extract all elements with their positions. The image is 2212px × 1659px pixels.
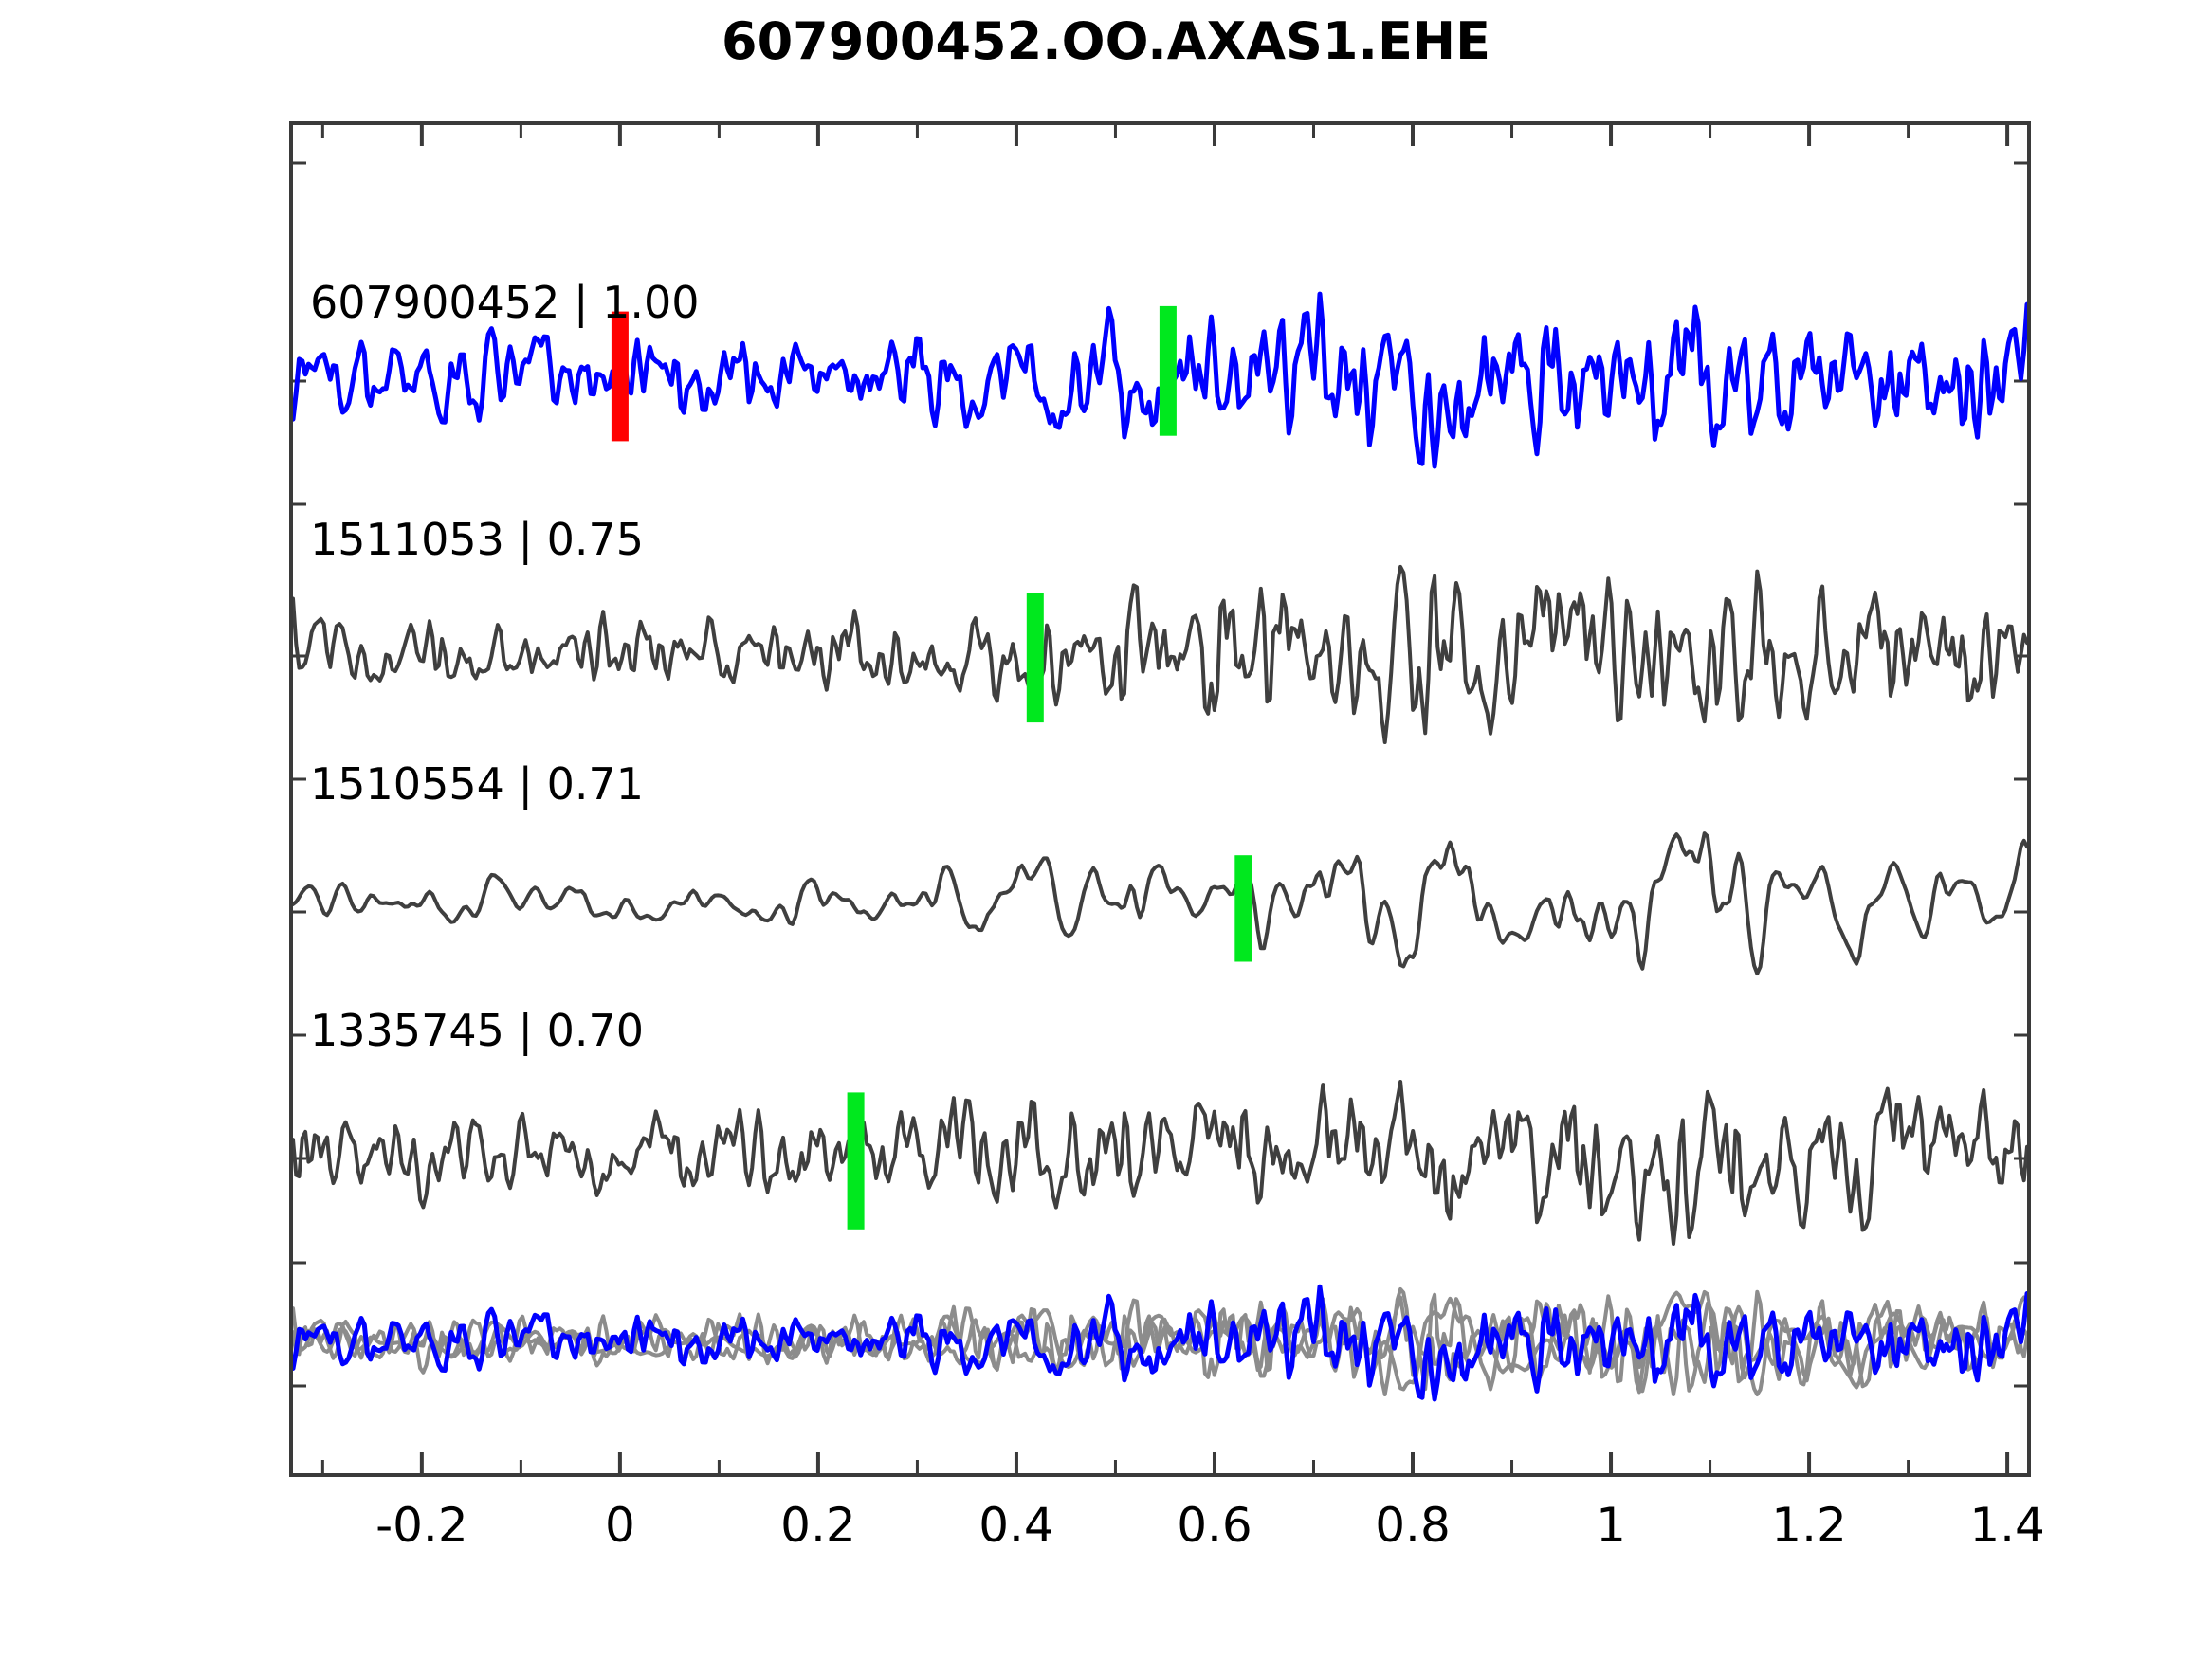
x-tick-label-7: 1.2 — [1771, 1498, 1847, 1553]
s-pick-marker-1335745 — [848, 1092, 865, 1229]
trace-line-1511053 — [293, 567, 2027, 742]
x-tick-label-3: 0.4 — [978, 1498, 1054, 1553]
p-pick-marker-607900452 — [612, 312, 629, 442]
figure-canvas: 607900452.OO.AXAS1.EHE 607900452 | 1.00 … — [0, 0, 2212, 1659]
x-tick-label-8: 1.4 — [1969, 1498, 2045, 1553]
trace-line-1510554 — [293, 833, 2027, 974]
x-tick-label-0: -0.2 — [375, 1498, 468, 1553]
page-title: 607900452.OO.AXAS1.EHE — [0, 11, 2212, 71]
trace-label-607900452: 607900452 | 1.00 — [310, 277, 700, 328]
x-tick-label-5: 0.8 — [1375, 1498, 1451, 1553]
s-pick-marker-607900452 — [1160, 306, 1177, 436]
x-tick-label-4: 0.6 — [1177, 1498, 1252, 1553]
s-pick-marker-1511053 — [1027, 592, 1044, 722]
x-axis-tick-labels: -0.200.20.40.60.811.21.4 — [0, 1498, 2212, 1574]
trace-line-1335745 — [293, 1082, 2027, 1244]
trace-label-1335745: 1335745 | 0.70 — [310, 1005, 644, 1056]
x-tick-label-1: 0 — [605, 1498, 635, 1553]
trace-label-1510554: 1510554 | 0.71 — [310, 758, 644, 810]
s-pick-marker-1510554 — [1234, 855, 1252, 961]
x-tick-label-2: 0.2 — [780, 1498, 856, 1553]
trace-label-1511053: 1511053 | 0.75 — [310, 514, 644, 565]
x-tick-label-6: 1 — [1596, 1498, 1626, 1553]
plot-frame: 607900452 | 1.00 1511053 | 0.75 1510554 … — [289, 121, 2031, 1477]
